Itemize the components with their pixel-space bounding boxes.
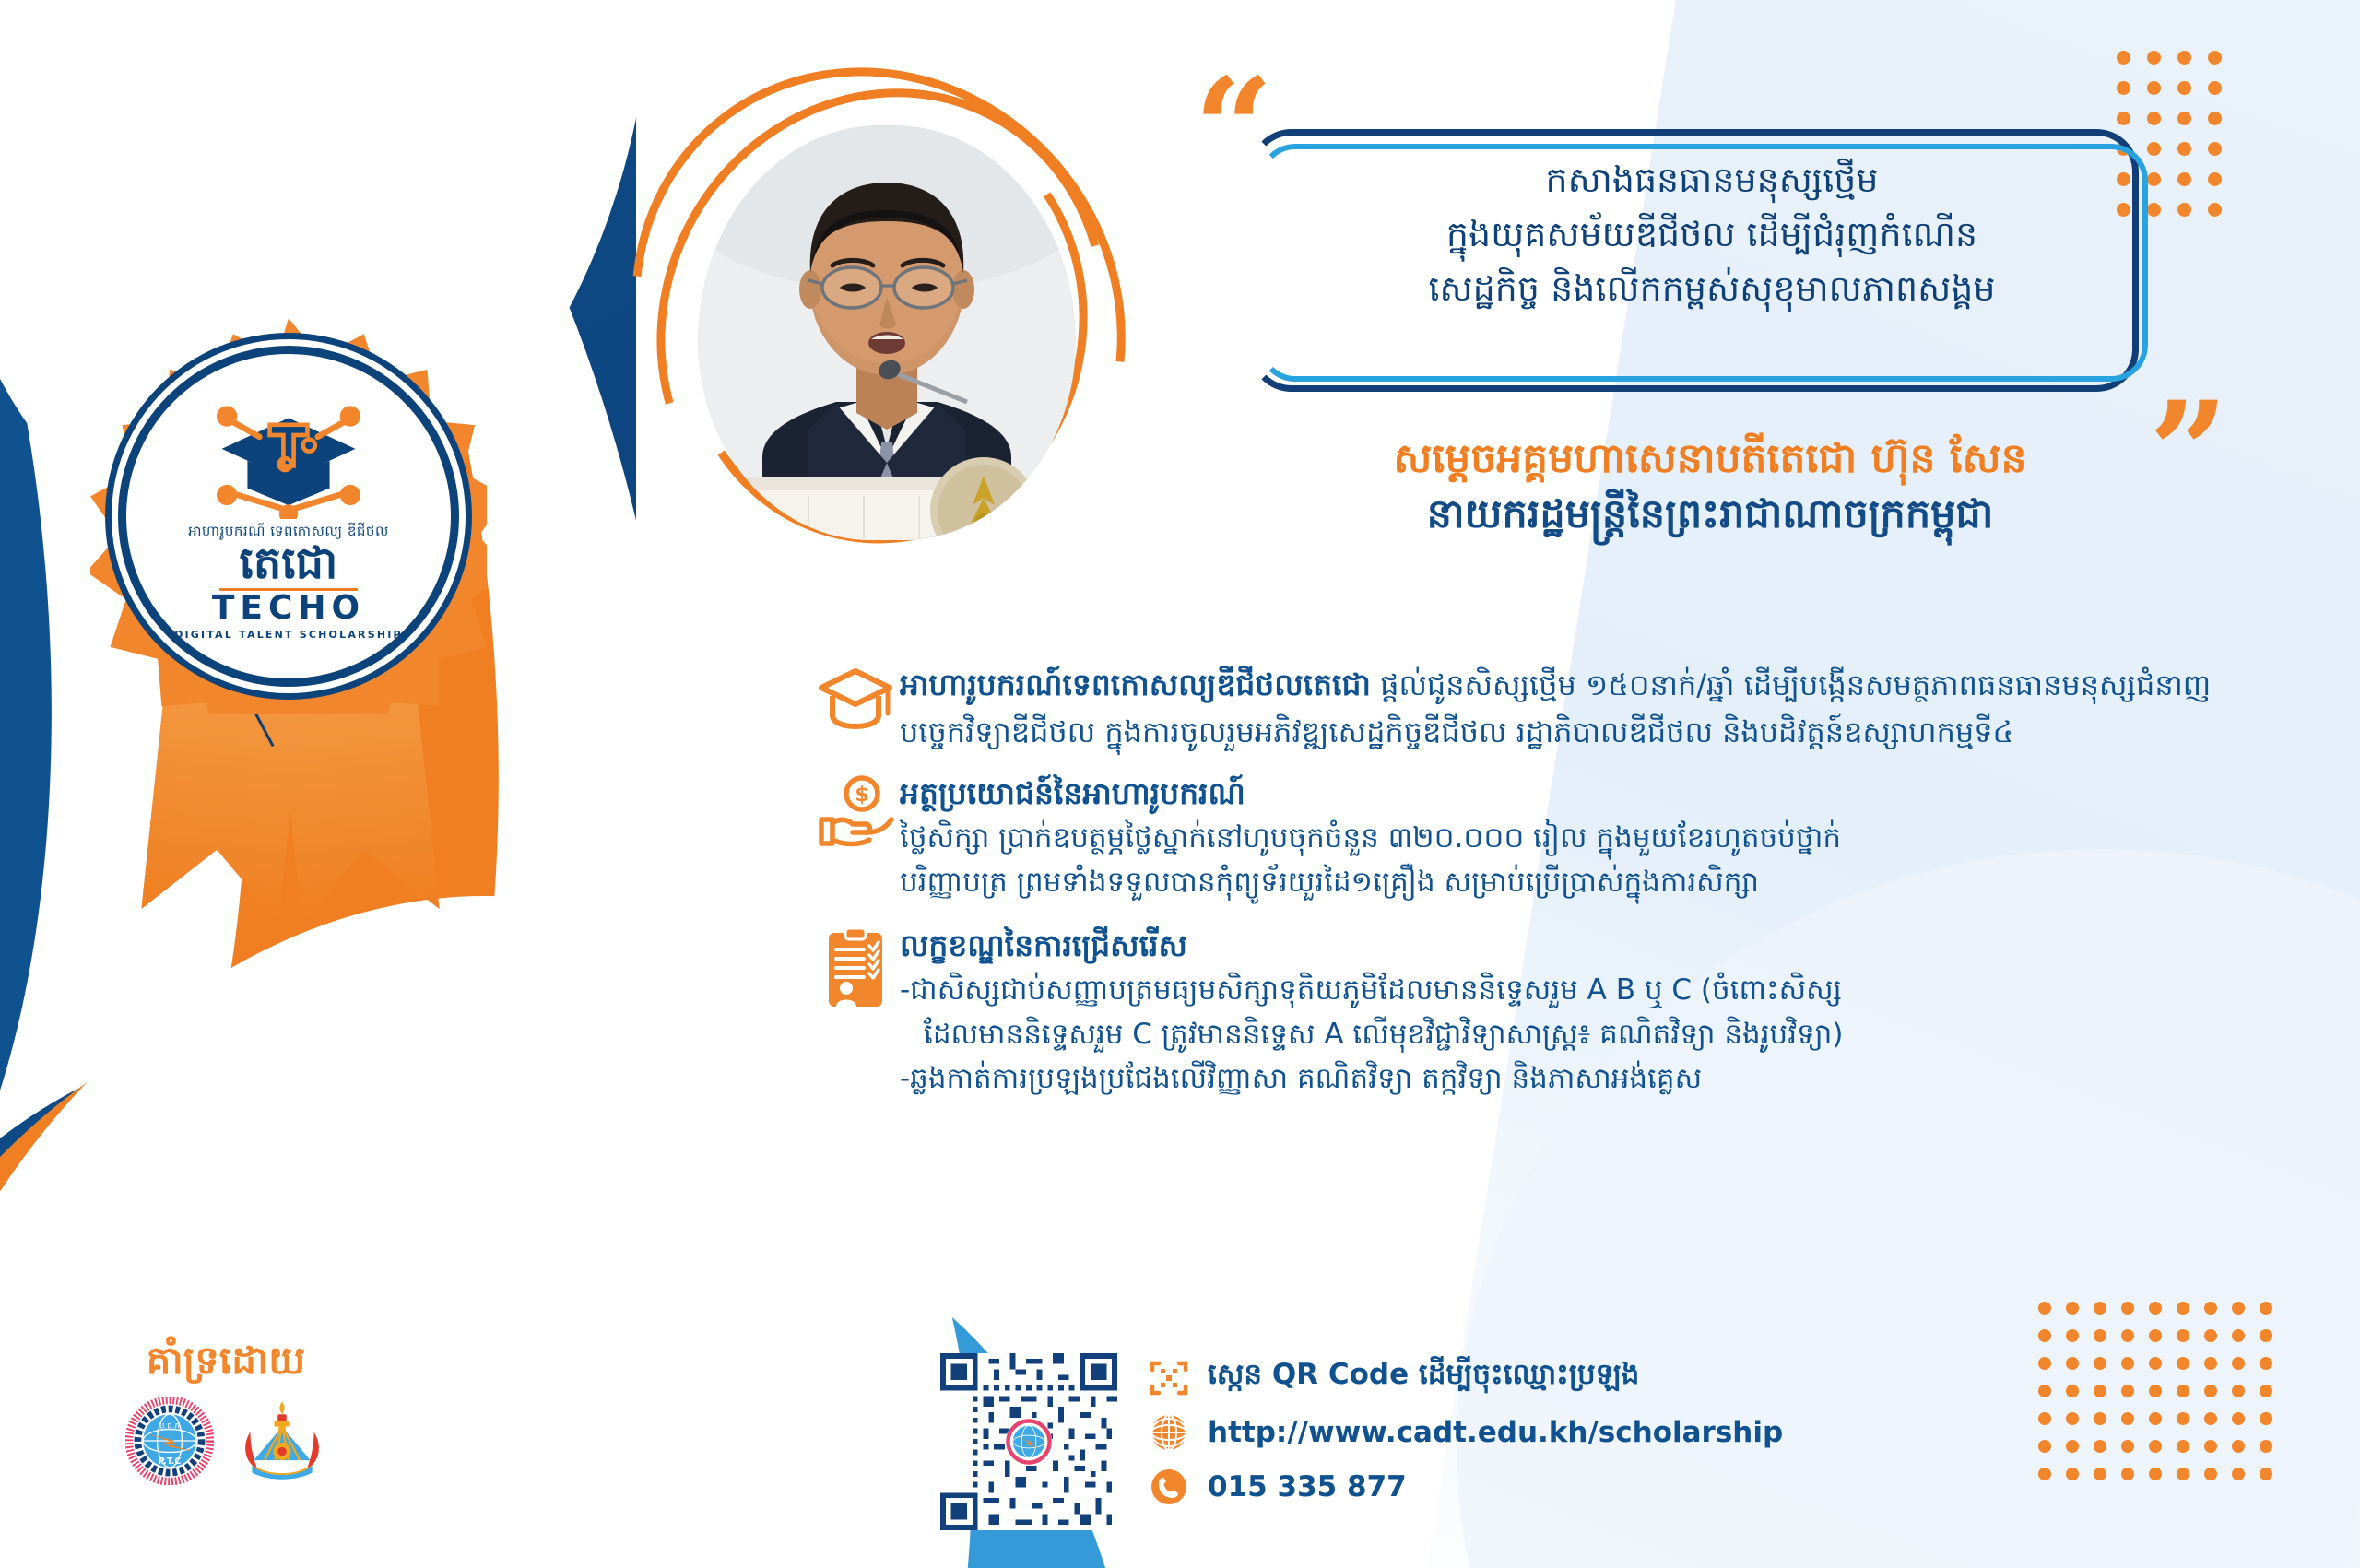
quote-line: ក្នុងយុគសម័យឌីជីថល ដើម្បីជំរុញកំណើន [1286,207,2138,262]
decor-dot [2121,1385,2134,1397]
scholarship-poster: អាហារូបករណ៍ ទេពកោសល្យ ឌីជីថល តេជោ TECHO … [0,0,2360,1568]
attribution-name: សម្តេចអគ្គមហាសេនាបតីតេជោ ហ៊ុន សែន [1235,433,2185,484]
decor-dot [2177,1357,2189,1370]
decor-dot [2066,1329,2079,1342]
contact-row-website[interactable]: http://www.cadt.edu.kh/scholarship [1149,1412,1783,1453]
decor-dot [2177,203,2191,217]
decor-dot [2121,1412,2134,1425]
decor-dot [2094,1357,2106,1370]
decor-dot [2066,1412,2079,1425]
decor-dot [2177,172,2191,186]
section-3-line: ដែលមាននិទ្ទេសរួម C ត្រូវមាននិទ្ទេស A លើម… [900,1012,2249,1056]
section-2-line: បរិញ្ញាបត្រ ព្រមទាំងទទួលបានកុំព្យូទ័រយួរ… [900,860,2249,904]
section-3-heading: លក្ខខណ្ឌនៃការជ្រើសរើស [900,924,2249,968]
decor-dot [2208,172,2222,186]
decor-dot [2038,1468,2051,1480]
decor-dot [2208,203,2222,217]
decor-dot [2066,1302,2079,1315]
graduation-cap-icon [811,662,900,732]
quote-block: “ ” កសាងធនធានមនុស្សថ្មើម ក្នុងយុគសម័យឌីជ… [1249,109,2171,413]
decor-dot [2177,1440,2189,1453]
techo-badge: អាហារូបករណ៍ ទេពកោសល្យ ឌីជីថល តេជោ TECHO … [53,309,533,880]
decor-dot [2232,1468,2245,1480]
decor-dot [2094,1468,2106,1480]
decor-dot [2177,1468,2189,1480]
globe-icon [1149,1412,1189,1453]
decor-dot [2066,1385,2079,1397]
decor-dot [2232,1385,2245,1397]
decor-dot [2094,1302,2106,1315]
quote-line: សេដ្ឋកិច្ច និងលើកកម្ពស់សុខុមាលភាពសង្គម [1286,262,2138,316]
decor-dot [2038,1385,2051,1397]
royal-government-emblem [238,1397,326,1485]
decor-dot [2066,1440,2079,1453]
decor-dot [2121,1329,2134,1342]
decor-dot [2204,1440,2217,1453]
decor-dot [2260,1385,2272,1397]
decor-dot [2121,1357,2134,1370]
supported-by-title: គាំទ្រដោយ [74,1339,378,1382]
decor-dot [2208,51,2222,65]
decor-dot [2177,81,2191,95]
section-scholarship-overview: អាហារូបករណ៍ទេពកោសល្យឌីជីថលតេជោ ផ្តល់ជូនស… [811,662,2249,755]
section-2-line: ថ្លៃសិក្សា ប្រាក់ឧបត្ថម្ភថ្លៃស្នាក់នៅហូប… [900,816,2249,860]
qr-center-logo [1005,1418,1053,1466]
quote-attribution: សម្តេចអគ្គមហាសេនាបតីតេជោ ហ៊ុន សែន នាយករដ… [1235,433,2185,541]
contact-scan-text: ស្កេន QR Code ដើម្បីចុះឈ្មោះប្រឡង [1208,1357,1639,1398]
decor-dot [2177,51,2191,65]
decor-dot [2149,1329,2162,1342]
qr-code[interactable] [940,1353,1117,1530]
decor-dot [2147,51,2161,65]
decor-dot [2177,112,2191,125]
quote-text: កសាងធនធានមនុស្សថ្មើម ក្នុងយុគសម័យឌីជីថល … [1286,153,2138,316]
decor-dot [2094,1440,2106,1453]
portrait-photo [698,125,1076,540]
contact-section: ស្កេន QR Code ដើម្បីចុះឈ្មោះប្រឡង http:/… [940,1353,1783,1530]
contact-phone-number[interactable]: 015 335 877 [1208,1470,1407,1503]
logo-name-english: TECHO [212,592,365,625]
decor-dot [2149,1440,2162,1453]
contact-row-scan: ស្កេន QR Code ដើម្បីចុះឈ្មោះប្រឡង [1149,1357,1783,1398]
attribution-role: នាយករដ្ឋមន្ត្រីនៃព្រះរាជាណាចក្រកម្ពុជា [1235,489,2185,541]
logo-tagline: DIGITAL TALENT SCHOLARSHIP [174,629,403,641]
decor-dot [2038,1329,2051,1342]
quote-line: កសាងធនធានមនុស្សថ្មើម [1286,153,2138,207]
body-sections: អាហារូបករណ៍ទេពកោសល្យឌីជីថលតេជោ ផ្តល់ជូនស… [811,662,2249,1116]
decor-dot [2204,1412,2217,1425]
decor-dot [2204,1302,2217,1315]
decor-dot [2094,1329,2106,1342]
decor-dot [2038,1412,2051,1425]
logo-name-khmer: តេជោ [240,541,338,585]
svg-text:P.T.C: P.T.C [159,1456,182,1467]
decor-dot [2204,1329,2217,1342]
svg-text:$: $ [855,784,868,807]
decor-dot [2147,81,2161,95]
section-3-line: -ឆ្លងកាត់ការប្រឡងប្រជែងលើវិញ្ញាសា គណិតវិ… [900,1056,2249,1101]
decor-dot [2232,1357,2245,1370]
supported-by-section: គាំទ្រដោយ ប.ធ.ក P.T.C [74,1339,378,1485]
decor-dot [2204,1385,2217,1397]
hand-money-icon: $ [811,772,900,847]
svg-text:ប.ធ.ក: ប.ធ.ក [159,1422,180,1432]
decor-dot [2121,1468,2134,1480]
section-benefits: $ អត្ថប្រយោជន៍នៃអាហារូបករណ៍ ថ្លៃសិក្សា ប… [811,772,2249,905]
badge-circle: អាហារូបករណ៍ ទេពកោសល្យ ឌីជីថល តេជោ TECHO … [118,346,459,687]
decor-dot [2149,1412,2162,1425]
decor-dot [2177,1329,2189,1342]
decor-dot [2149,1357,2162,1370]
decor-dot [2038,1302,2051,1315]
criteria-checklist-icon [811,924,900,1012]
contact-website-url[interactable]: http://www.cadt.edu.kh/scholarship [1208,1416,1783,1449]
quote-open-mark: “ [1194,81,1273,178]
decor-dot [2232,1440,2245,1453]
decor-dot [2177,142,2191,156]
section-3-line: -ជាសិស្សជាប់សញ្ញាបត្រមធ្យមសិក្សាទុតិយភូម… [900,968,2249,1012]
section-1-heading: អាហារូបករណ៍ទេពកោសល្យឌីជីថលតេជោ [900,666,1371,702]
decor-dot [2117,81,2130,95]
decor-dot [2232,1329,2245,1342]
decor-dot [2121,1302,2134,1315]
decor-dot [2177,1302,2189,1315]
decor-dot [2232,1302,2245,1315]
graduation-cap-logo-icon [201,399,376,519]
decor-dot [2204,1468,2217,1480]
decor-dot [2149,1468,2162,1480]
decor-dot [2038,1357,2051,1370]
decor-dot [2204,1357,2217,1370]
decor-dot [2149,1302,2162,1315]
decor-dot [2094,1385,2106,1397]
decor-dot [2260,1302,2272,1315]
decor-dot [2260,1468,2272,1480]
section-1-text: អាហារូបករណ៍ទេពកោសល្យឌីជីថលតេជោ ផ្តល់ជូនស… [900,662,2249,755]
decor-dot [2117,51,2130,65]
decor-dot [2066,1468,2079,1480]
portrait-frame [678,109,1120,597]
qr-scan-icon [1149,1358,1189,1398]
decor-dot [2260,1412,2272,1425]
contact-row-phone[interactable]: 015 335 877 [1149,1467,1783,1507]
decor-dot [2121,1440,2134,1453]
decor-dot [2260,1329,2272,1342]
decor-dot [2038,1440,2051,1453]
decor-dot [2232,1412,2245,1425]
decor-dot [2066,1357,2079,1370]
dot-grid-bottom-right [2038,1302,2272,1480]
decor-dot [2208,81,2222,95]
section-2-heading: អត្ថប្រយោជន៍នៃអាហារូបករណ៍ [900,772,2249,816]
decor-dot [2208,142,2222,156]
decor-dot [2177,1412,2189,1425]
decor-dot [2177,1385,2189,1397]
decor-dot [2260,1440,2272,1453]
decor-dot [2149,1385,2162,1397]
phone-icon [1149,1467,1189,1507]
ptc-logo: ប.ធ.ក P.T.C [125,1397,214,1485]
section-selection-criteria: លក្ខខណ្ឌនៃការជ្រើសរើស -ជាសិស្សជាប់សញ្ញាប… [811,924,2249,1102]
decor-dot [2208,112,2222,125]
decor-dot [2260,1357,2272,1370]
decor-dot [2094,1412,2106,1425]
